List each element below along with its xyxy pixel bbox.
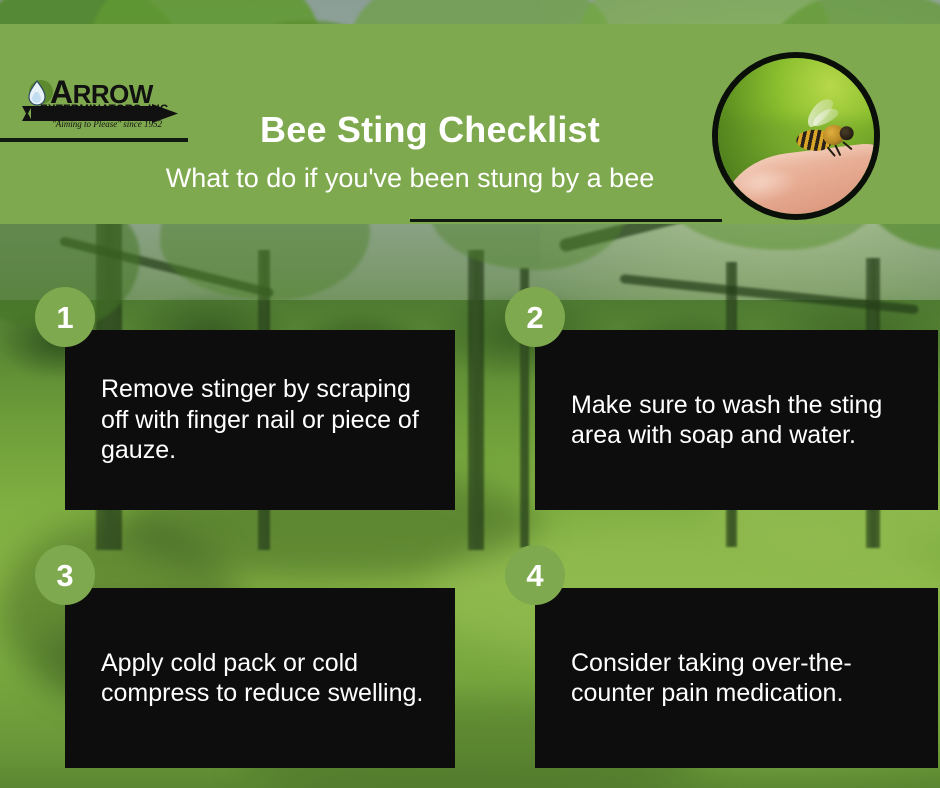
infographic-poster: ARROW EXTERMINATORS, INC "Aiming to Plea… xyxy=(0,0,940,788)
page-title: Bee Sting Checklist xyxy=(150,112,710,148)
step-number-badge: 4 xyxy=(505,545,565,605)
fingertip-highlight xyxy=(736,167,797,204)
page-subtitle: What to do if you've been stung by a bee xyxy=(110,164,710,194)
header-rule-right xyxy=(410,219,722,222)
step-card: Remove stinger by scraping off with fing… xyxy=(65,330,455,510)
bee-photo-circle xyxy=(712,52,880,220)
step-number-badge: 1 xyxy=(35,287,95,347)
logo-tagline: "Aiming to Please" since 1952 xyxy=(52,119,162,129)
step-text: Remove stinger by scraping off with fing… xyxy=(65,374,455,466)
step-card: Consider taking over-the-counter pain me… xyxy=(535,588,938,768)
step-number-badge: 2 xyxy=(505,287,565,347)
step-text: Apply cold pack or cold compress to redu… xyxy=(65,648,455,709)
step-card: Make sure to wash the sting area with so… xyxy=(535,330,938,510)
bee-leg xyxy=(842,141,852,150)
step-number-badge: 3 xyxy=(35,545,95,605)
step-text: Make sure to wash the sting area with so… xyxy=(535,390,938,451)
step-card: Apply cold pack or cold compress to redu… xyxy=(65,588,455,768)
step-text: Consider taking over-the-counter pain me… xyxy=(535,648,938,709)
